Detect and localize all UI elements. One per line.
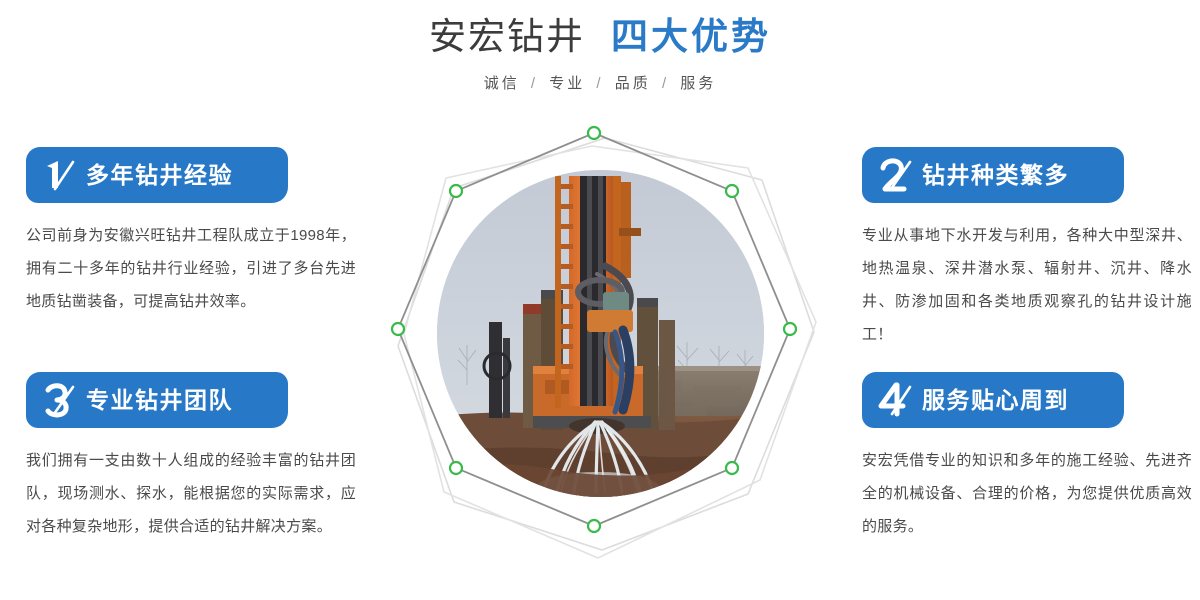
feature-card-3: 专业钻井团队 我们拥有一支由数十人组成的经验丰富的钻井团队，现场测水、探水，能根… [26,372,356,543]
feature-card-2: 钻井种类繁多 专业从事地下水开发与利用，各种大中型深井、地热温泉、深井潜水泵、辐… [862,147,1192,351]
feature-heading-2: 钻井种类繁多 [922,164,1069,187]
feature-badge-2[interactable]: 钻井种类繁多 [862,147,1124,203]
title-accent-text: 四大优势 [611,16,771,57]
number-4-icon [876,380,916,420]
node-dot-0 [588,127,600,139]
feature-badge-3[interactable]: 专业钻井团队 [26,372,288,428]
node-dot-4 [588,520,600,532]
promo-banner: 安宏钻井四大优势 诚信 / 专业 / 品质 / 服务 [0,0,1200,600]
feature-body-1: 公司前身为安徽兴旺钻井工程队成立于1998年，拥有二十多年的钻井行业经验，引进了… [26,219,356,318]
number-2-icon [876,155,916,195]
center-decoration [370,110,830,580]
feature-card-1: 多年钻井经验 公司前身为安徽兴旺钻井工程队成立于1998年，拥有二十多年的钻井行… [26,147,356,318]
feature-badge-1[interactable]: 多年钻井经验 [26,147,288,203]
right-column: 钻井种类繁多 专业从事地下水开发与利用，各种大中型深井、地热温泉、深井潜水泵、辐… [862,0,1192,600]
subtitle-item-3: 服务 [680,75,716,92]
feature-heading-4: 服务贴心周到 [922,389,1069,412]
feature-card-4: 服务贴心周到 安宏凭借专业的知识和多年的施工经验、先进齐全的机械设备、合理的价格… [862,372,1192,543]
subtitle-item-2: 品质 [615,75,651,92]
subtitle-item-1: 专业 [549,75,585,92]
feature-badge-4[interactable]: 服务贴心周到 [862,372,1124,428]
feature-heading-1: 多年钻井经验 [86,164,233,187]
number-3-icon [40,380,80,420]
left-column: 多年钻井经验 公司前身为安徽兴旺钻井工程队成立于1998年，拥有二十多年的钻井行… [26,0,356,600]
subtitle-item-0: 诚信 [484,75,520,92]
subtitle-separator-2: / [662,75,669,92]
node-dot-6 [392,323,404,335]
drilling-rig-illustration [437,170,764,497]
number-1-icon [40,155,80,195]
title-main-text: 安宏钻井 [429,16,585,57]
subtitle-separator-1: / [596,75,603,92]
feature-heading-3: 专业钻井团队 [86,389,233,412]
drilling-rig-photo [437,170,764,497]
feature-body-4: 安宏凭借专业的知识和多年的施工经验、先进齐全的机械设备、合理的价格，为您提供优质… [862,444,1192,543]
feature-body-3: 我们拥有一支由数十人组成的经验丰富的钻井团队，现场测水、探水，能根据您的实际需求… [26,444,356,543]
node-dot-2 [784,323,796,335]
feature-body-2: 专业从事地下水开发与利用，各种大中型深井、地热温泉、深井潜水泵、辐射井、沉井、降… [862,219,1192,351]
subtitle-separator-0: / [531,75,538,92]
